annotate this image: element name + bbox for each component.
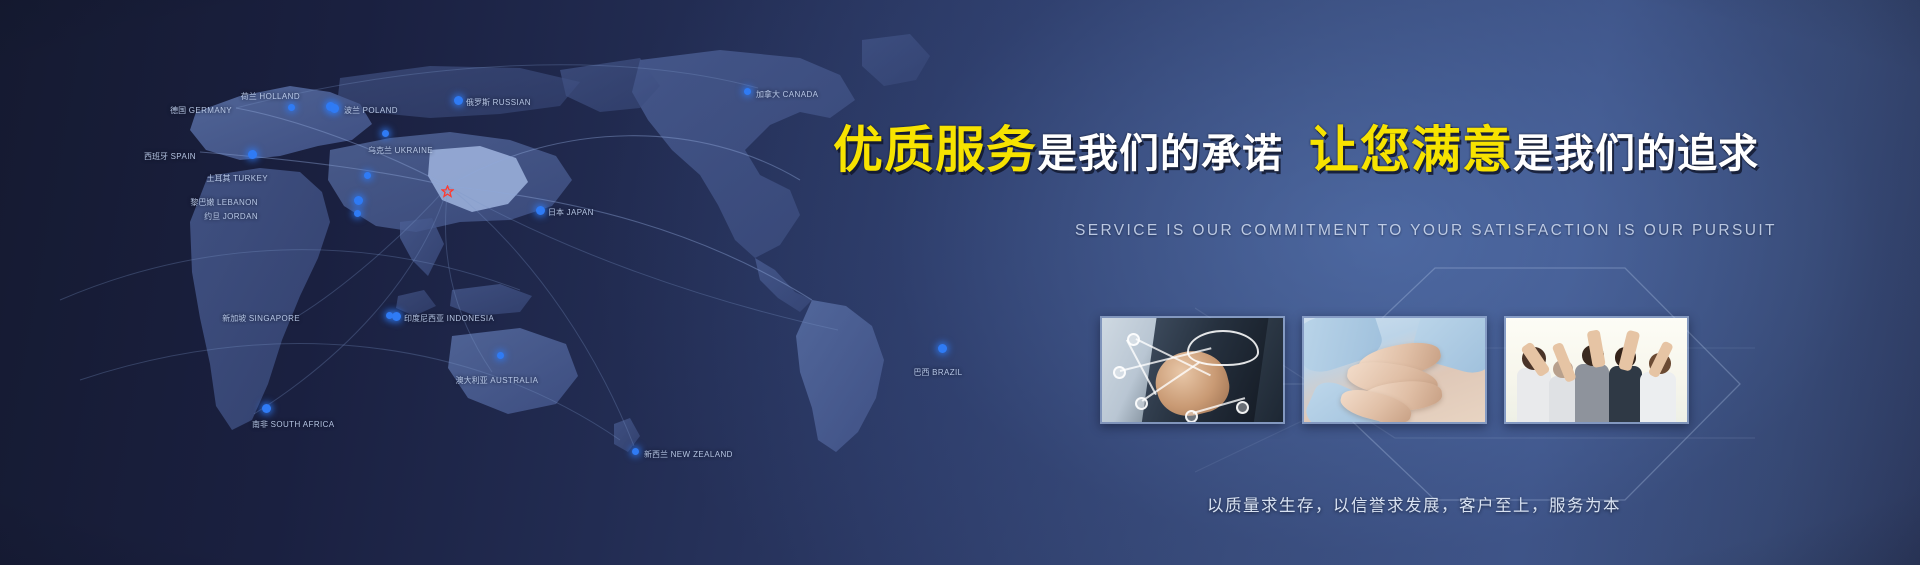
map-marker-brazil[interactable] bbox=[938, 344, 947, 353]
photo-team-high-five[interactable] bbox=[1504, 316, 1689, 424]
map-marker-lebanon[interactable] bbox=[354, 196, 363, 205]
page-title: 优质服务是我们的承诺让您满意是我们的追求 bbox=[833, 125, 1759, 175]
map-label-turkey: 土耳其 TURKEY bbox=[207, 173, 268, 184]
map-marker-germany[interactable] bbox=[288, 104, 295, 111]
map-label-new-zealand: 新西兰 NEW ZEALAND bbox=[644, 449, 733, 460]
world-map: 荷兰 HOLLAND德国 GERMANY波兰 POLAND乌克兰 UKRAINE… bbox=[0, 0, 1060, 565]
company-motto: 以质量求生存，以信誉求发展，客户至上，服务为本 bbox=[1207, 492, 1621, 516]
map-marker-poland[interactable] bbox=[330, 104, 339, 113]
map-label-poland: 波兰 POLAND bbox=[344, 105, 398, 116]
map-marker-south-africa[interactable] bbox=[262, 404, 271, 413]
map-marker-indonesia[interactable] bbox=[392, 312, 401, 321]
map-marker-australia[interactable] bbox=[497, 352, 504, 359]
map-label-indonesia: 印度尼西亚 INDONESIA bbox=[404, 313, 494, 324]
map-label-australia: 澳大利亚 AUSTRALIA bbox=[437, 375, 557, 386]
map-marker-japan[interactable] bbox=[536, 206, 545, 215]
headline-rest-2: 是我们的追求 bbox=[1513, 132, 1759, 176]
map-marker-canada[interactable] bbox=[744, 88, 751, 95]
map-marker-jordan[interactable] bbox=[354, 210, 361, 217]
map-label-brazil: 巴西 BRAZIL bbox=[878, 367, 998, 378]
map-marker-russian[interactable] bbox=[454, 96, 463, 105]
headline-rest-1: 是我们的承诺 bbox=[1037, 132, 1283, 176]
photo-gallery bbox=[1100, 316, 1689, 424]
map-label-russian: 俄罗斯 RUSSIAN bbox=[466, 97, 531, 108]
map-label-lebanon: 黎巴嫩 LEBANON bbox=[190, 197, 258, 208]
map-label-holland: 荷兰 HOLLAND bbox=[241, 91, 300, 102]
headline-highlight-1: 优质服务 bbox=[833, 122, 1037, 178]
photo-cloud-network-touch[interactable] bbox=[1100, 316, 1285, 424]
map-label-canada: 加拿大 CANADA bbox=[756, 89, 818, 100]
map-marker-new-zealand[interactable] bbox=[632, 448, 639, 455]
service-promise-banner: 荷兰 HOLLAND德国 GERMANY波兰 POLAND乌克兰 UKRAINE… bbox=[0, 0, 1920, 565]
map-label-ukraine: 乌克兰 UKRAINE bbox=[368, 145, 433, 156]
map-marker-ukraine[interactable] bbox=[382, 130, 389, 137]
subtitle-english: SERVICE IS OUR COMMITMENT TO YOUR SATISF… bbox=[1075, 222, 1777, 240]
map-marker-turkey[interactable] bbox=[364, 172, 371, 179]
map-label-singapore: 新加坡 SINGAPORE bbox=[222, 313, 300, 324]
map-marker-spain[interactable] bbox=[248, 150, 257, 159]
headline-highlight-2: 让您满意 bbox=[1309, 122, 1513, 178]
map-label-jordan: 约旦 JORDAN bbox=[204, 211, 258, 222]
map-label-germany: 德国 GERMANY bbox=[170, 105, 232, 116]
home-location-star-icon bbox=[441, 185, 454, 198]
photo-stacked-hands[interactable] bbox=[1302, 316, 1487, 424]
map-label-japan: 日本 JAPAN bbox=[548, 207, 594, 218]
map-label-spain: 西班牙 SPAIN bbox=[144, 151, 196, 162]
map-label-south-africa: 南非 SOUTH AFRICA bbox=[252, 419, 335, 430]
